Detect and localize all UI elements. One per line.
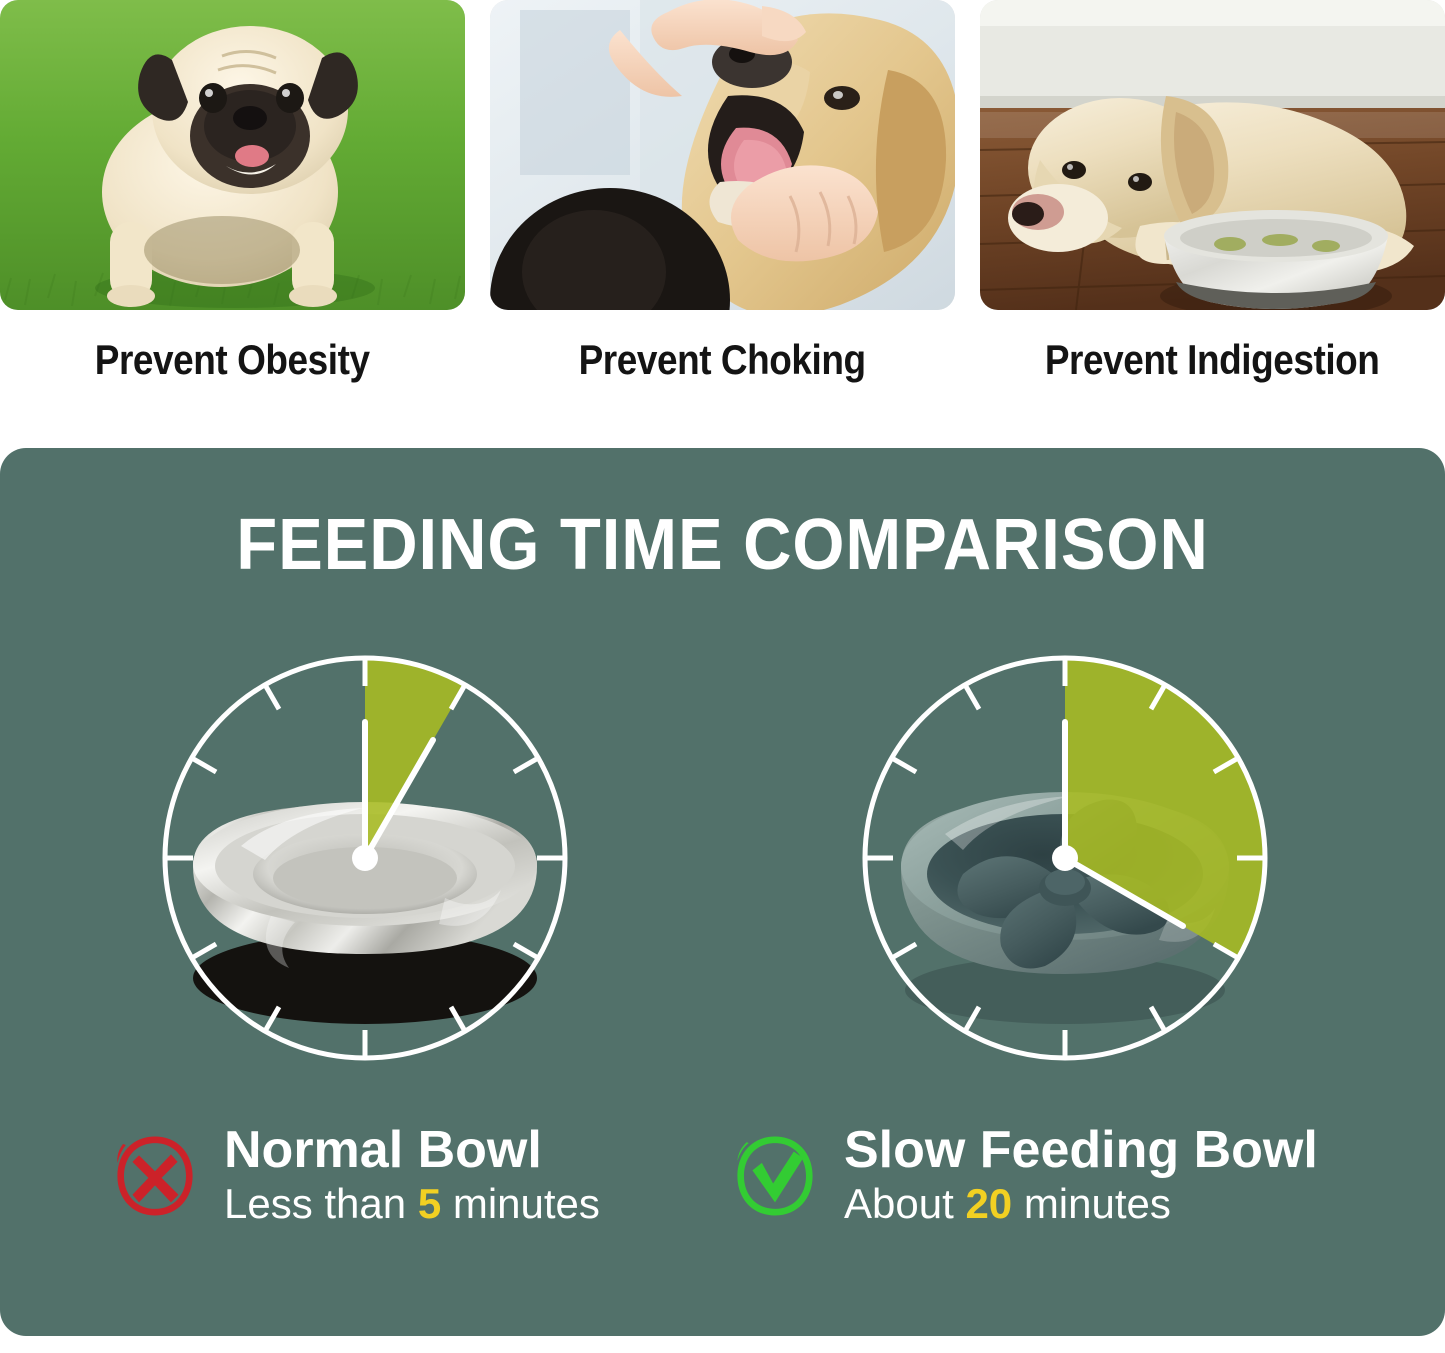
benefit-caption: Prevent Choking — [579, 336, 866, 384]
comparison-label-row: Normal Bowl Less than 5 minutes Slow Fee… — [0, 1123, 1445, 1273]
sad-labrador-lying-beside-bowl-photo — [980, 0, 1445, 310]
benefit-card-indigestion: Prevent Indigestion — [980, 0, 1445, 430]
benefit-caption: Prevent Indigestion — [1045, 336, 1380, 384]
normal-bowl-sub-suffix: minutes — [441, 1180, 600, 1227]
clock-dial — [145, 638, 585, 1078]
normal-bowl-clock — [145, 638, 585, 1078]
clock-comparison-row — [0, 638, 1445, 1088]
feeding-time-comparison-panel: FEEDING TIME COMPARISON — [0, 448, 1445, 1336]
page-title: FEEDING TIME COMPARISON — [51, 504, 1395, 586]
slow-feeding-bowl-minutes-value: 20 — [965, 1180, 1012, 1227]
benefits-strip: Prevent Obesity — [0, 0, 1445, 430]
benefit-card-obesity: Prevent Obesity — [0, 0, 465, 430]
slow-feeding-bowl-label-block: Slow Feeding Bowl About 20 minutes — [728, 1123, 1318, 1229]
slow-feeding-bowl-sub-suffix: minutes — [1012, 1180, 1171, 1227]
slow-feeding-bowl-subtitle: About 20 minutes — [844, 1180, 1318, 1229]
normal-bowl-sub-prefix: Less than — [224, 1180, 418, 1227]
slow-feeding-bowl-title: Slow Feeding Bowl — [844, 1123, 1318, 1178]
clock-center-hub — [1052, 845, 1078, 871]
slow-feeding-bowl-clock — [845, 638, 1285, 1078]
overweight-pug-on-grass-photo — [0, 0, 465, 310]
normal-bowl-title: Normal Bowl — [224, 1123, 600, 1178]
slow-feeding-bowl-sub-prefix: About — [844, 1180, 965, 1227]
benefit-caption: Prevent Obesity — [95, 336, 370, 384]
normal-bowl-label-texts: Normal Bowl Less than 5 minutes — [224, 1123, 600, 1229]
benefit-card-choking: Prevent Choking — [490, 0, 955, 430]
slow-feeding-bowl-label-texts: Slow Feeding Bowl About 20 minutes — [844, 1123, 1318, 1229]
cross-circle-icon — [108, 1129, 202, 1223]
check-circle-icon — [728, 1129, 822, 1223]
clock-dial — [845, 638, 1285, 1078]
normal-bowl-label-block: Normal Bowl Less than 5 minutes — [108, 1123, 600, 1229]
dog-choking-hands-in-mouth-photo — [490, 0, 955, 310]
normal-bowl-subtitle: Less than 5 minutes — [224, 1180, 600, 1229]
normal-bowl-minutes-value: 5 — [418, 1180, 441, 1227]
clock-center-hub — [352, 845, 378, 871]
